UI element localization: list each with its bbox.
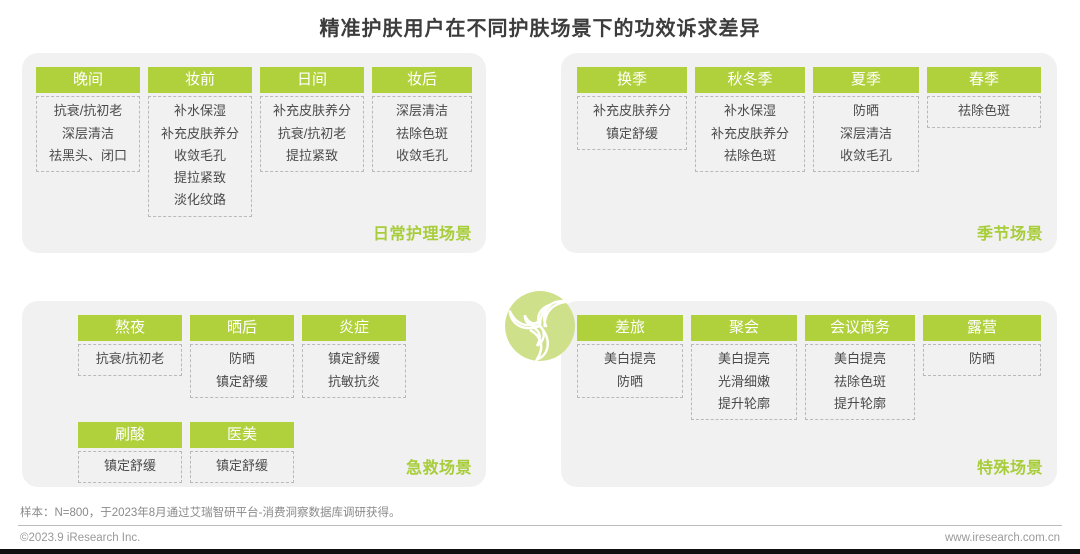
scenario-item: 镇定舒缓 (104, 458, 156, 474)
footer-divider (18, 525, 1062, 526)
scenario-item-list: 防晒 (923, 344, 1041, 375)
scenario-column: 春季祛除色斑 (927, 67, 1041, 128)
copyright-text: ©2023.9 iResearch Inc. (20, 532, 140, 544)
scenario-column-header[interactable]: 炎症 (302, 315, 406, 341)
panel-rescue: 急救场景 熬夜抗衰/抗初老晒后防晒镇定舒缓炎症镇定舒缓抗敏抗炎刷酸镇定舒缓医美镇… (22, 301, 486, 487)
scenario-column-header[interactable]: 妆后 (372, 67, 472, 93)
scenario-item: 提升轮廓 (718, 396, 770, 412)
scenario-item: 祛除色斑 (396, 126, 448, 142)
scenario-column: 炎症镇定舒缓抗敏抗炎 (302, 315, 406, 398)
scenario-item: 抗衰/抗初老 (54, 103, 123, 119)
scenario-item: 防晒 (617, 374, 643, 390)
scenario-column-header[interactable]: 聚会 (691, 315, 797, 341)
panel-seasonal: 季节场景 换季补充皮肤养分镇定舒缓秋冬季补水保湿补充皮肤养分祛除色斑夏季防晒深层… (561, 53, 1057, 253)
scenario-item-list: 抗衰/抗初老深层清洁祛黑头、闭口 (36, 96, 140, 172)
scenario-item-list: 补充皮肤养分镇定舒缓 (577, 96, 687, 150)
scenario-item: 镇定舒缓 (216, 458, 268, 474)
panel-label-special: 特殊场景 (977, 454, 1043, 478)
scenario-column-header[interactable]: 差旅 (577, 315, 683, 341)
scenario-column: 医美镇定舒缓 (190, 422, 294, 483)
scenario-item: 深层清洁 (840, 126, 892, 142)
scenario-column: 夏季防晒深层清洁收敛毛孔 (813, 67, 919, 172)
iresearch-pinwheel-logo (502, 288, 578, 364)
scenario-item: 防晒 (229, 351, 255, 367)
scenario-item-list: 镇定舒缓抗敏抗炎 (302, 344, 406, 398)
scenario-column: 露营防晒 (923, 315, 1041, 376)
scenario-column-header[interactable]: 夏季 (813, 67, 919, 93)
scenario-item: 深层清洁 (396, 103, 448, 119)
scenario-column: 熬夜抗衰/抗初老 (78, 315, 182, 376)
scenario-column: 会议商务美白提亮祛除色斑提升轮廓 (805, 315, 915, 420)
scenario-column-header[interactable]: 会议商务 (805, 315, 915, 341)
scenario-item: 抗敏抗炎 (328, 374, 380, 390)
scenario-column-header[interactable]: 妆前 (148, 67, 252, 93)
scenario-item: 美白提亮 (604, 351, 656, 367)
scenario-item-list: 防晒深层清洁收敛毛孔 (813, 96, 919, 172)
scenario-item-list: 美白提亮光滑细嫩提升轮廓 (691, 344, 797, 420)
scenario-column-header[interactable]: 日间 (260, 67, 364, 93)
scenario-item: 美白提亮 (834, 351, 886, 367)
scenario-column: 换季补充皮肤养分镇定舒缓 (577, 67, 687, 150)
scenario-item: 抗衰/抗初老 (278, 126, 347, 142)
scenario-item: 补充皮肤养分 (593, 103, 671, 119)
scenario-item-list: 补充皮肤养分抗衰/抗初老提拉紧致 (260, 96, 364, 172)
footnote-sample: 样本：N=800，于2023年8月通过艾瑞智研平台-消费洞察数据库调研获得。 (20, 504, 401, 520)
scenario-column: 差旅美白提亮防晒 (577, 315, 683, 398)
scenario-item: 补充皮肤养分 (161, 126, 239, 142)
scenario-item: 美白提亮 (718, 351, 770, 367)
scenario-column: 妆前补水保湿补充皮肤养分收敛毛孔提拉紧致淡化纹路 (148, 67, 252, 217)
page-title: 精准护肤用户在不同护肤场景下的功效诉求差异 (0, 12, 1080, 41)
scenario-column-header[interactable]: 熬夜 (78, 315, 182, 341)
scenario-column-header[interactable]: 医美 (190, 422, 294, 448)
scenario-column: 日间补充皮肤养分抗衰/抗初老提拉紧致 (260, 67, 364, 172)
scenario-column-header[interactable]: 春季 (927, 67, 1041, 93)
scenario-item-list: 抗衰/抗初老 (78, 344, 182, 375)
scenario-column: 妆后深层清洁祛除色斑收敛毛孔 (372, 67, 472, 172)
scenario-column-header[interactable]: 刷酸 (78, 422, 182, 448)
scenario-item: 祛黑头、闭口 (49, 148, 127, 164)
scenario-board: 日常护理场景 晚间抗衰/抗初老深层清洁祛黑头、闭口妆前补水保湿补充皮肤养分收敛毛… (0, 48, 1080, 496)
scenario-item-list: 镇定舒缓 (190, 451, 294, 482)
scenario-column-header[interactable]: 露营 (923, 315, 1041, 341)
scenario-item: 补充皮肤养分 (711, 126, 789, 142)
panel-label-daily-care: 日常护理场景 (373, 220, 472, 244)
scenario-item-list: 美白提亮防晒 (577, 344, 683, 398)
scenario-item-list: 祛除色斑 (927, 96, 1041, 127)
scenario-item: 收敛毛孔 (840, 148, 892, 164)
scenario-item: 光滑细嫩 (718, 374, 770, 390)
scenario-item: 淡化纹路 (174, 192, 226, 208)
scenario-column: 刷酸镇定舒缓 (78, 422, 182, 483)
website-url[interactable]: www.iresearch.com.cn (945, 532, 1060, 544)
bottom-bar (0, 549, 1080, 554)
scenario-item: 提升轮廓 (834, 396, 886, 412)
scenario-item-list: 镇定舒缓 (78, 451, 182, 482)
scenario-column-header[interactable]: 晚间 (36, 67, 140, 93)
scenario-item-list: 防晒镇定舒缓 (190, 344, 294, 398)
scenario-item: 防晒 (969, 351, 995, 367)
scenario-column: 晚间抗衰/抗初老深层清洁祛黑头、闭口 (36, 67, 140, 172)
scenario-column-header[interactable]: 秋冬季 (695, 67, 805, 93)
panel-special: 特殊场景 差旅美白提亮防晒聚会美白提亮光滑细嫩提升轮廓会议商务美白提亮祛除色斑提… (561, 301, 1057, 487)
scenario-item: 提拉紧致 (174, 170, 226, 186)
scenario-column-header[interactable]: 换季 (577, 67, 687, 93)
scenario-item: 收敛毛孔 (174, 148, 226, 164)
scenario-item: 补充皮肤养分 (273, 103, 351, 119)
scenario-column-header[interactable]: 晒后 (190, 315, 294, 341)
scenario-item: 镇定舒缓 (216, 374, 268, 390)
scenario-item: 祛除色斑 (958, 103, 1010, 119)
scenario-item: 提拉紧致 (286, 148, 338, 164)
scenario-column: 聚会美白提亮光滑细嫩提升轮廓 (691, 315, 797, 420)
scenario-item: 防晒 (853, 103, 879, 119)
scenario-item-list: 深层清洁祛除色斑收敛毛孔 (372, 96, 472, 172)
scenario-item: 收敛毛孔 (396, 148, 448, 164)
scenario-column: 晒后防晒镇定舒缓 (190, 315, 294, 398)
scenario-item: 祛除色斑 (834, 374, 886, 390)
scenario-item: 祛除色斑 (724, 148, 776, 164)
panel-daily-care: 日常护理场景 晚间抗衰/抗初老深层清洁祛黑头、闭口妆前补水保湿补充皮肤养分收敛毛… (22, 53, 486, 253)
scenario-item: 深层清洁 (62, 126, 114, 142)
scenario-item: 抗衰/抗初老 (96, 351, 165, 367)
scenario-item: 补水保湿 (174, 103, 226, 119)
panel-label-seasonal: 季节场景 (977, 220, 1043, 244)
scenario-item: 补水保湿 (724, 103, 776, 119)
scenario-item-list: 补水保湿补充皮肤养分祛除色斑 (695, 96, 805, 172)
scenario-item-list: 美白提亮祛除色斑提升轮廓 (805, 344, 915, 420)
scenario-item: 镇定舒缓 (328, 351, 380, 367)
scenario-column: 秋冬季补水保湿补充皮肤养分祛除色斑 (695, 67, 805, 172)
panel-label-rescue: 急救场景 (406, 454, 472, 478)
scenario-item: 镇定舒缓 (606, 126, 658, 142)
scenario-item-list: 补水保湿补充皮肤养分收敛毛孔提拉紧致淡化纹路 (148, 96, 252, 216)
